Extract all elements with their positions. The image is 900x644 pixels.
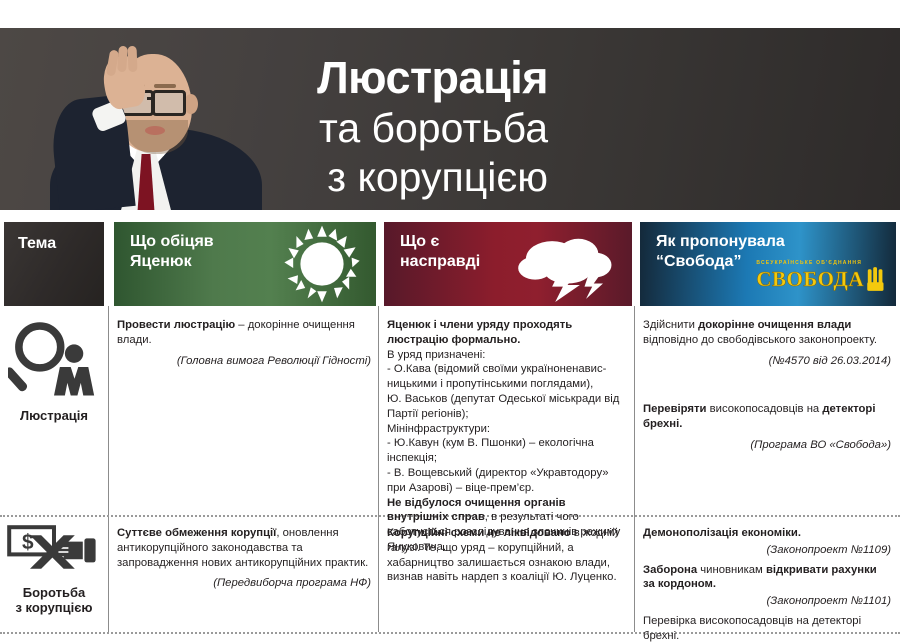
title-line-2: та боротьба xyxy=(148,105,548,152)
column-header-promised-label: Що обіцяв Яценюк xyxy=(130,232,214,272)
cell-svoboda-lustration-2-source: (Програма ВО «Свобода») xyxy=(643,438,891,453)
cell-reality-anticorruption: Корупційні схеми не ліквідовано в жодній… xyxy=(387,526,627,585)
cell-svoboda-anticorruption-1-source: (Законопроект №1109) xyxy=(643,543,891,558)
cell-reality-lustration-p7: - В. Вощевський (директор «Укравтодору» … xyxy=(387,466,627,496)
row-label-anticorruption-text: Боротьба з корупцією xyxy=(4,585,104,616)
trident-hand-icon xyxy=(866,266,888,292)
cell-svoboda-anticorruption-3-text: Перевірка високопосадовців на детекторі … xyxy=(643,614,891,644)
cell-reality-lustration-p6: - Ю.Кавун (кум В. Пшонки) – екологічна і… xyxy=(387,436,627,466)
column-header-reality: Що є насправді xyxy=(384,222,632,306)
row-label-lustration: Люстрація xyxy=(4,320,104,423)
no-bribe-icon: $ xyxy=(6,524,102,580)
cell-svoboda-lustration-2-middle: високопосадовців на xyxy=(707,403,823,415)
cell-svoboda-lustration-1-source: (№4570 від 26.03.2014) xyxy=(643,354,891,369)
cell-svoboda-anticorruption-2-source: (Законопроект №1101) xyxy=(643,594,891,609)
cell-reality-lustration: Яценюк і члени уряду проходять люстрацію… xyxy=(387,318,627,555)
storm-cloud-icon xyxy=(512,228,620,302)
column-divider-3 xyxy=(634,306,635,632)
sun-icon xyxy=(282,224,362,304)
svg-text:$: $ xyxy=(22,531,34,554)
cell-promised-lustration-bold: Провести люстрацію xyxy=(117,319,235,331)
title-line-1: Люстрація xyxy=(148,52,548,103)
row-label-anticorruption: $ Боротьба з корупцією xyxy=(4,524,104,616)
column-header-promised: Що обіцяв Яценюк xyxy=(114,222,376,306)
magnifier-official-icon xyxy=(8,320,100,404)
column-header-theme: Тема xyxy=(4,222,104,306)
cell-svoboda-lustration-2: Перевіряти високопосадовців на детекторі… xyxy=(643,402,891,452)
column-divider-1 xyxy=(108,306,109,632)
row-label-lustration-text: Люстрація xyxy=(4,408,104,423)
cell-reality-lustration-lead: Яценюк і члени уряду проходять люстрацію… xyxy=(387,319,572,346)
cell-reality-anticorruption-bold: Корупційні схеми не ліквідовано xyxy=(387,527,571,539)
title-line-3: з корупцією xyxy=(148,154,548,201)
cell-svoboda-lustration-1-prefix: Здійснити xyxy=(643,319,698,331)
cell-svoboda-anticorruption-2-bold: Заборона xyxy=(643,564,697,576)
column-header-svoboda: Як пропонувала “Свобода” ВСЕУКРАЇНСЬКЕ О… xyxy=(640,222,896,306)
column-divider-2 xyxy=(378,306,379,632)
cell-promised-anticorruption-source: (Передвиборча програма НФ) xyxy=(117,576,371,591)
cell-reality-lustration-p3: - О.Кава (відомий своїми україноненавис-… xyxy=(387,362,627,392)
cell-promised-anticorruption: Суттєве обмеження корупції, оновлення ан… xyxy=(117,526,371,591)
comparison-table: Люстрація Провести люстрацію – докорінне… xyxy=(0,306,900,640)
cell-svoboda-lustration-1-suffix: відповідно до свободівського законопроек… xyxy=(643,334,877,346)
cell-promised-anticorruption-bold: Суттєве обмеження корупції xyxy=(117,527,276,539)
cell-svoboda-lustration-2-bold: Перевіряти xyxy=(643,403,707,415)
cell-svoboda-anticorruption-1-bold: Демонополізація економіки. xyxy=(643,527,801,539)
cell-svoboda-anticorruption: Демонополізація економіки. (Законопроект… xyxy=(643,526,891,644)
cell-promised-lustration: Провести люстрацію – докорінне очищення … xyxy=(117,318,371,368)
cell-reality-lustration-p2: В уряд призначені: xyxy=(387,348,627,363)
portrait-finger xyxy=(117,46,128,73)
cell-svoboda-anticorruption-2-middle: чиновникам xyxy=(697,564,766,576)
page-title: Люстрація та боротьба з корупцією xyxy=(148,52,548,201)
cell-svoboda-lustration-1-bold: докорінне очищення влади xyxy=(698,319,851,331)
header-banner: Люстрація та боротьба з корупцією xyxy=(0,28,900,210)
svoboda-logo-word: СВОБОДА xyxy=(756,269,864,290)
column-headers: Тема Що обіцяв Яценюк xyxy=(0,222,900,306)
cell-svoboda-lustration-1: Здійснити докорінне очищення влади відпо… xyxy=(643,318,891,368)
cell-reality-lustration-p5: Мінінфраструктури: xyxy=(387,422,627,437)
column-header-reality-label: Що є насправді xyxy=(400,232,480,272)
cell-reality-lustration-p4: Ю. Васьков (депутат Одеської міськради в… xyxy=(387,392,627,422)
column-header-theme-label: Тема xyxy=(18,234,56,254)
column-header-svoboda-label: Як пропонувала “Свобода” xyxy=(656,232,785,272)
portrait-finger xyxy=(128,46,138,72)
cell-promised-lustration-source: (Головна вимога Революції Гідності) xyxy=(117,354,371,369)
